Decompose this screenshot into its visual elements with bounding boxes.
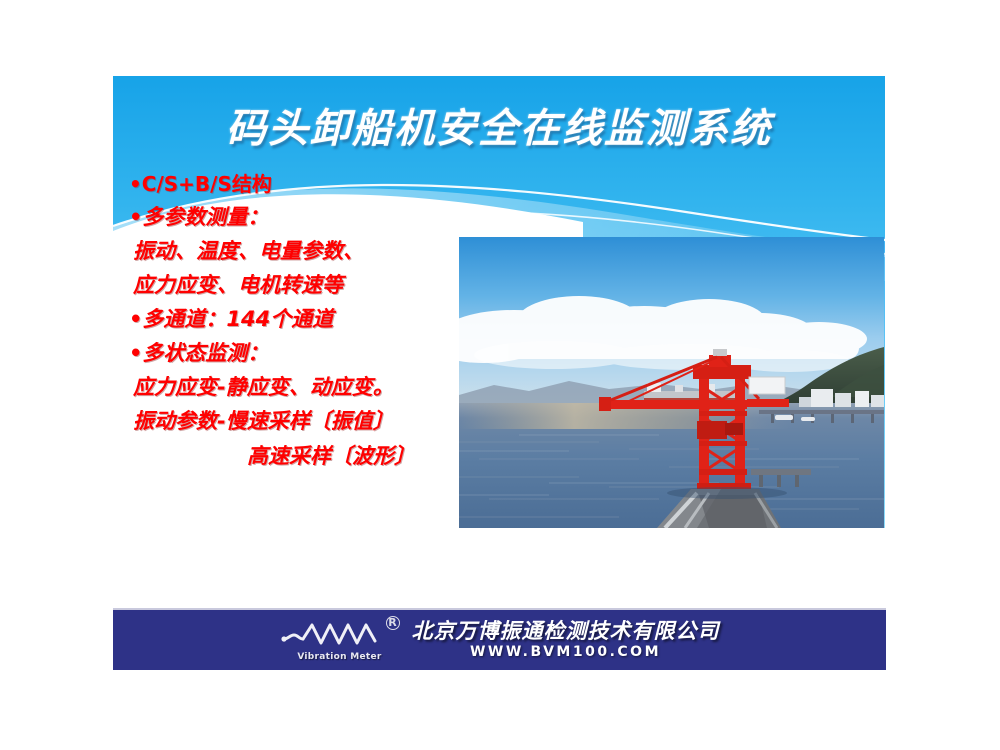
bullet-item-1: •C/S+B/S结构 — [129, 168, 479, 200]
bullet-item-8: 振动参数-慢速采样〔振值〕 — [129, 404, 479, 438]
bullet-item-3: 振动、温度、电量参数、 — [129, 234, 479, 268]
registered-trademark-icon: R — [386, 616, 400, 630]
company-website: WWW.BVM100.COM — [470, 644, 661, 660]
vibration-wave-icon — [280, 619, 398, 653]
footer-bar: R Vibration Meter 北京万博振通检测技术有限公司 WWW.BVM… — [113, 608, 886, 670]
bullet-item-4: 应力应变、电机转速等 — [129, 268, 479, 302]
bullet-list: •C/S+B/S结构 •多参数测量： 振动、温度、电量参数、 应力应变、电机转速… — [129, 168, 479, 473]
company-logo: R Vibration Meter — [280, 617, 398, 663]
company-info: 北京万博振通检测技术有限公司 WWW.BVM100.COM — [412, 620, 720, 659]
bullet-item-7: 应力应变-静应变、动应变。 — [129, 370, 479, 404]
bullet-item-9: 高速采样〔波形〕 — [129, 439, 479, 473]
presentation-slide: 码头卸船机安全在线监测系统 •C/S+B/S结构 •多参数测量： 振动、温度、电… — [0, 0, 1000, 750]
photo-illustration — [459, 237, 884, 528]
dock-crane-photo — [459, 237, 884, 528]
company-name: 北京万博振通检测技术有限公司 — [412, 620, 720, 642]
logo-subtitle: Vibration Meter — [288, 652, 392, 662]
bullet-item-6: •多状态监测： — [129, 336, 479, 370]
slide-title: 码头卸船机安全在线监测系统 — [113, 96, 885, 154]
bullet-item-2: •多参数测量： — [129, 200, 479, 234]
bullet-item-5: •多通道：144个通道 — [129, 302, 479, 336]
